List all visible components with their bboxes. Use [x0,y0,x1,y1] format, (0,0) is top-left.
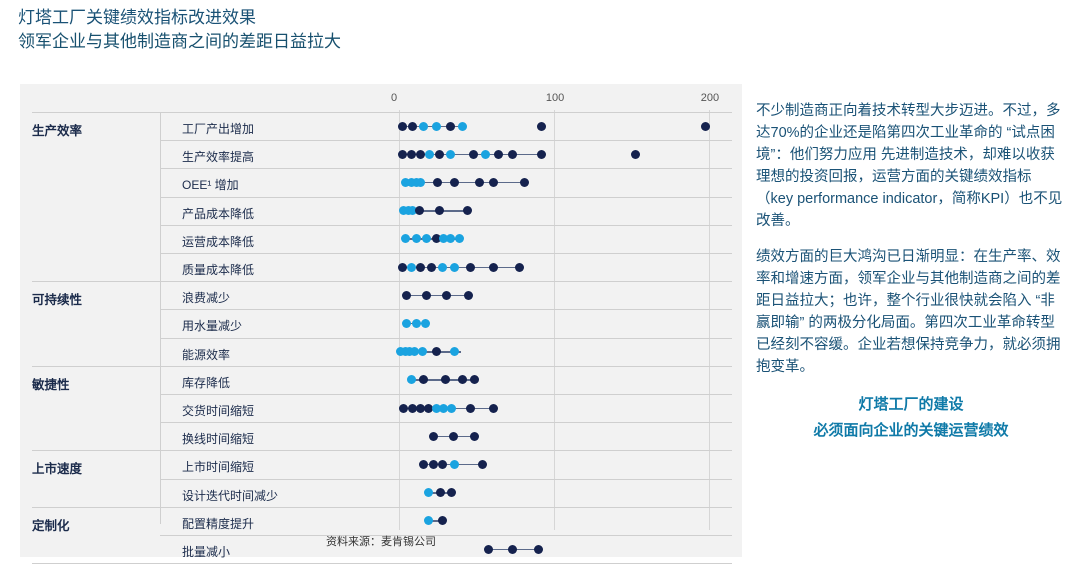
data-point [450,263,459,272]
data-point [419,460,428,469]
data-point [478,460,487,469]
data-point [450,460,459,469]
callout-line-2: 必须面向企业的关键运营绩效 [756,418,1066,444]
data-point [438,516,447,525]
row-separator [160,168,732,169]
data-point [416,150,425,159]
data-point [408,122,417,131]
data-point [407,150,416,159]
data-point [432,122,441,131]
data-point [446,150,455,159]
page-title: 灯塔工厂关键绩效指标改进效果 领军企业与其他制造商之间的差距日益拉大 [18,6,758,54]
data-point [415,206,424,215]
data-point [412,234,421,243]
data-point [407,375,416,384]
row-separator [160,479,732,480]
data-point [416,178,425,187]
row-label: 上市时间缩短 [182,458,254,475]
group-separator [32,112,732,113]
data-point [424,516,433,525]
data-point [401,234,410,243]
data-point [438,460,447,469]
gridline [709,110,710,530]
data-point [466,404,475,413]
group-separator [32,450,732,451]
group-label-0: 生产效率 [32,120,82,139]
group-label-4: 定制化 [32,515,70,534]
data-point [515,263,524,272]
row-label: 能源效率 [182,346,230,363]
callout-line-1: 灯塔工厂的建设 [756,392,1066,418]
commentary-paragraph-2: 绩效方面的巨大鸿沟已日渐明显：在生产率、效率和增速方面，领军企业与其他制造商之间… [756,246,1066,378]
data-point [463,206,472,215]
group-label-3: 上市速度 [32,458,82,477]
data-point [701,122,710,131]
data-point [435,150,444,159]
data-point [412,319,421,328]
data-point [450,347,459,356]
x-axis-tick-labels: 0100200 [20,92,742,108]
label-divider [160,112,161,524]
row-label: 设计迭代时间减少 [182,487,278,504]
row-separator [160,309,732,310]
data-point [398,122,407,131]
data-point [449,432,458,441]
group-separator [32,281,732,282]
data-point [470,375,479,384]
data-point [455,234,464,243]
data-point [446,122,455,131]
data-point [441,375,450,384]
row-label: 浪费减少 [182,289,230,306]
row-separator [160,394,732,395]
data-point [399,404,408,413]
row-label: 生产效率提高 [182,148,254,165]
data-point [422,291,431,300]
row-label: 产品成本降低 [182,205,254,222]
data-point [631,150,640,159]
data-point [402,291,411,300]
row-label: 配置精度提升 [182,515,254,532]
title-line-1: 灯塔工厂关键绩效指标改进效果 [18,6,758,30]
data-point [458,375,467,384]
group-label-2: 敏捷性 [32,374,70,393]
title-line-2: 领军企业与其他制造商之间的差距日益拉大 [18,30,758,54]
data-point [429,460,438,469]
x-axis-tick-200: 200 [701,92,719,104]
row-label: 运营成本降低 [182,233,254,250]
data-point [418,347,427,356]
data-point [422,234,431,243]
row-separator [160,140,732,141]
data-point [489,178,498,187]
row-label: 用水量减少 [182,317,242,334]
data-point [398,263,407,272]
row-label: 工厂产出增加 [182,120,254,137]
data-point [458,122,467,131]
data-point [442,291,451,300]
row-separator [160,225,732,226]
row-label: OEE¹ 增加 [182,176,239,193]
data-point [447,404,456,413]
gridline [399,110,400,530]
callout: 灯塔工厂的建设 必须面向企业的关键运营绩效 [756,392,1066,444]
row-separator [160,422,732,423]
data-point [537,122,546,131]
data-point [433,178,442,187]
row-label: 质量成本降低 [182,261,254,278]
data-point [425,150,434,159]
group-label-1: 可持续性 [32,289,82,308]
data-point [436,488,445,497]
x-axis-tick-100: 100 [546,92,564,104]
commentary-column: 不少制造商正向着技术转型大步迈进。不过，多达70%的企业还是陷第四次工业革命的 … [756,100,1066,444]
data-point [446,234,455,243]
row-separator [160,197,732,198]
scatter-chart: 0100200生产效率工厂产出增加生产效率提高OEE¹ 增加产品成本降低运营成本… [20,84,742,557]
row-label: 库存降低 [182,374,230,391]
x-axis-tick-0: 0 [391,92,397,104]
row-label: 换线时间缩短 [182,430,254,447]
data-point [469,150,478,159]
data-point [402,319,411,328]
data-point [466,263,475,272]
data-point [464,291,473,300]
data-point [421,319,430,328]
data-point [427,263,436,272]
commentary-paragraph-1: 不少制造商正向着技术转型大步迈进。不过，多达70%的企业还是陷第四次工业革命的 … [756,100,1066,232]
data-point [424,488,433,497]
source-note: 资料来源：麦肯锡公司 [20,533,742,549]
chart-panel: 0100200生产效率工厂产出增加生产效率提高OEE¹ 增加产品成本降低运营成本… [20,84,742,557]
data-point [447,488,456,497]
data-point [481,150,490,159]
row-separator [160,253,732,254]
data-point [438,263,447,272]
data-point [429,432,438,441]
data-point [416,263,425,272]
data-point [475,178,484,187]
data-point [450,178,459,187]
range-connector [407,295,469,297]
data-point [489,404,498,413]
data-point [520,178,529,187]
data-point [537,150,546,159]
data-point [508,150,517,159]
data-point [419,122,428,131]
data-point [494,150,503,159]
data-point [407,263,416,272]
group-separator [32,563,732,564]
group-separator [32,366,732,367]
row-separator [160,338,732,339]
data-point [419,375,428,384]
data-point [470,432,479,441]
data-point [435,206,444,215]
gridline [554,110,555,530]
data-point [398,150,407,159]
data-point [489,263,498,272]
data-point [432,347,441,356]
group-separator [32,507,732,508]
row-label: 交货时间缩短 [182,402,254,419]
